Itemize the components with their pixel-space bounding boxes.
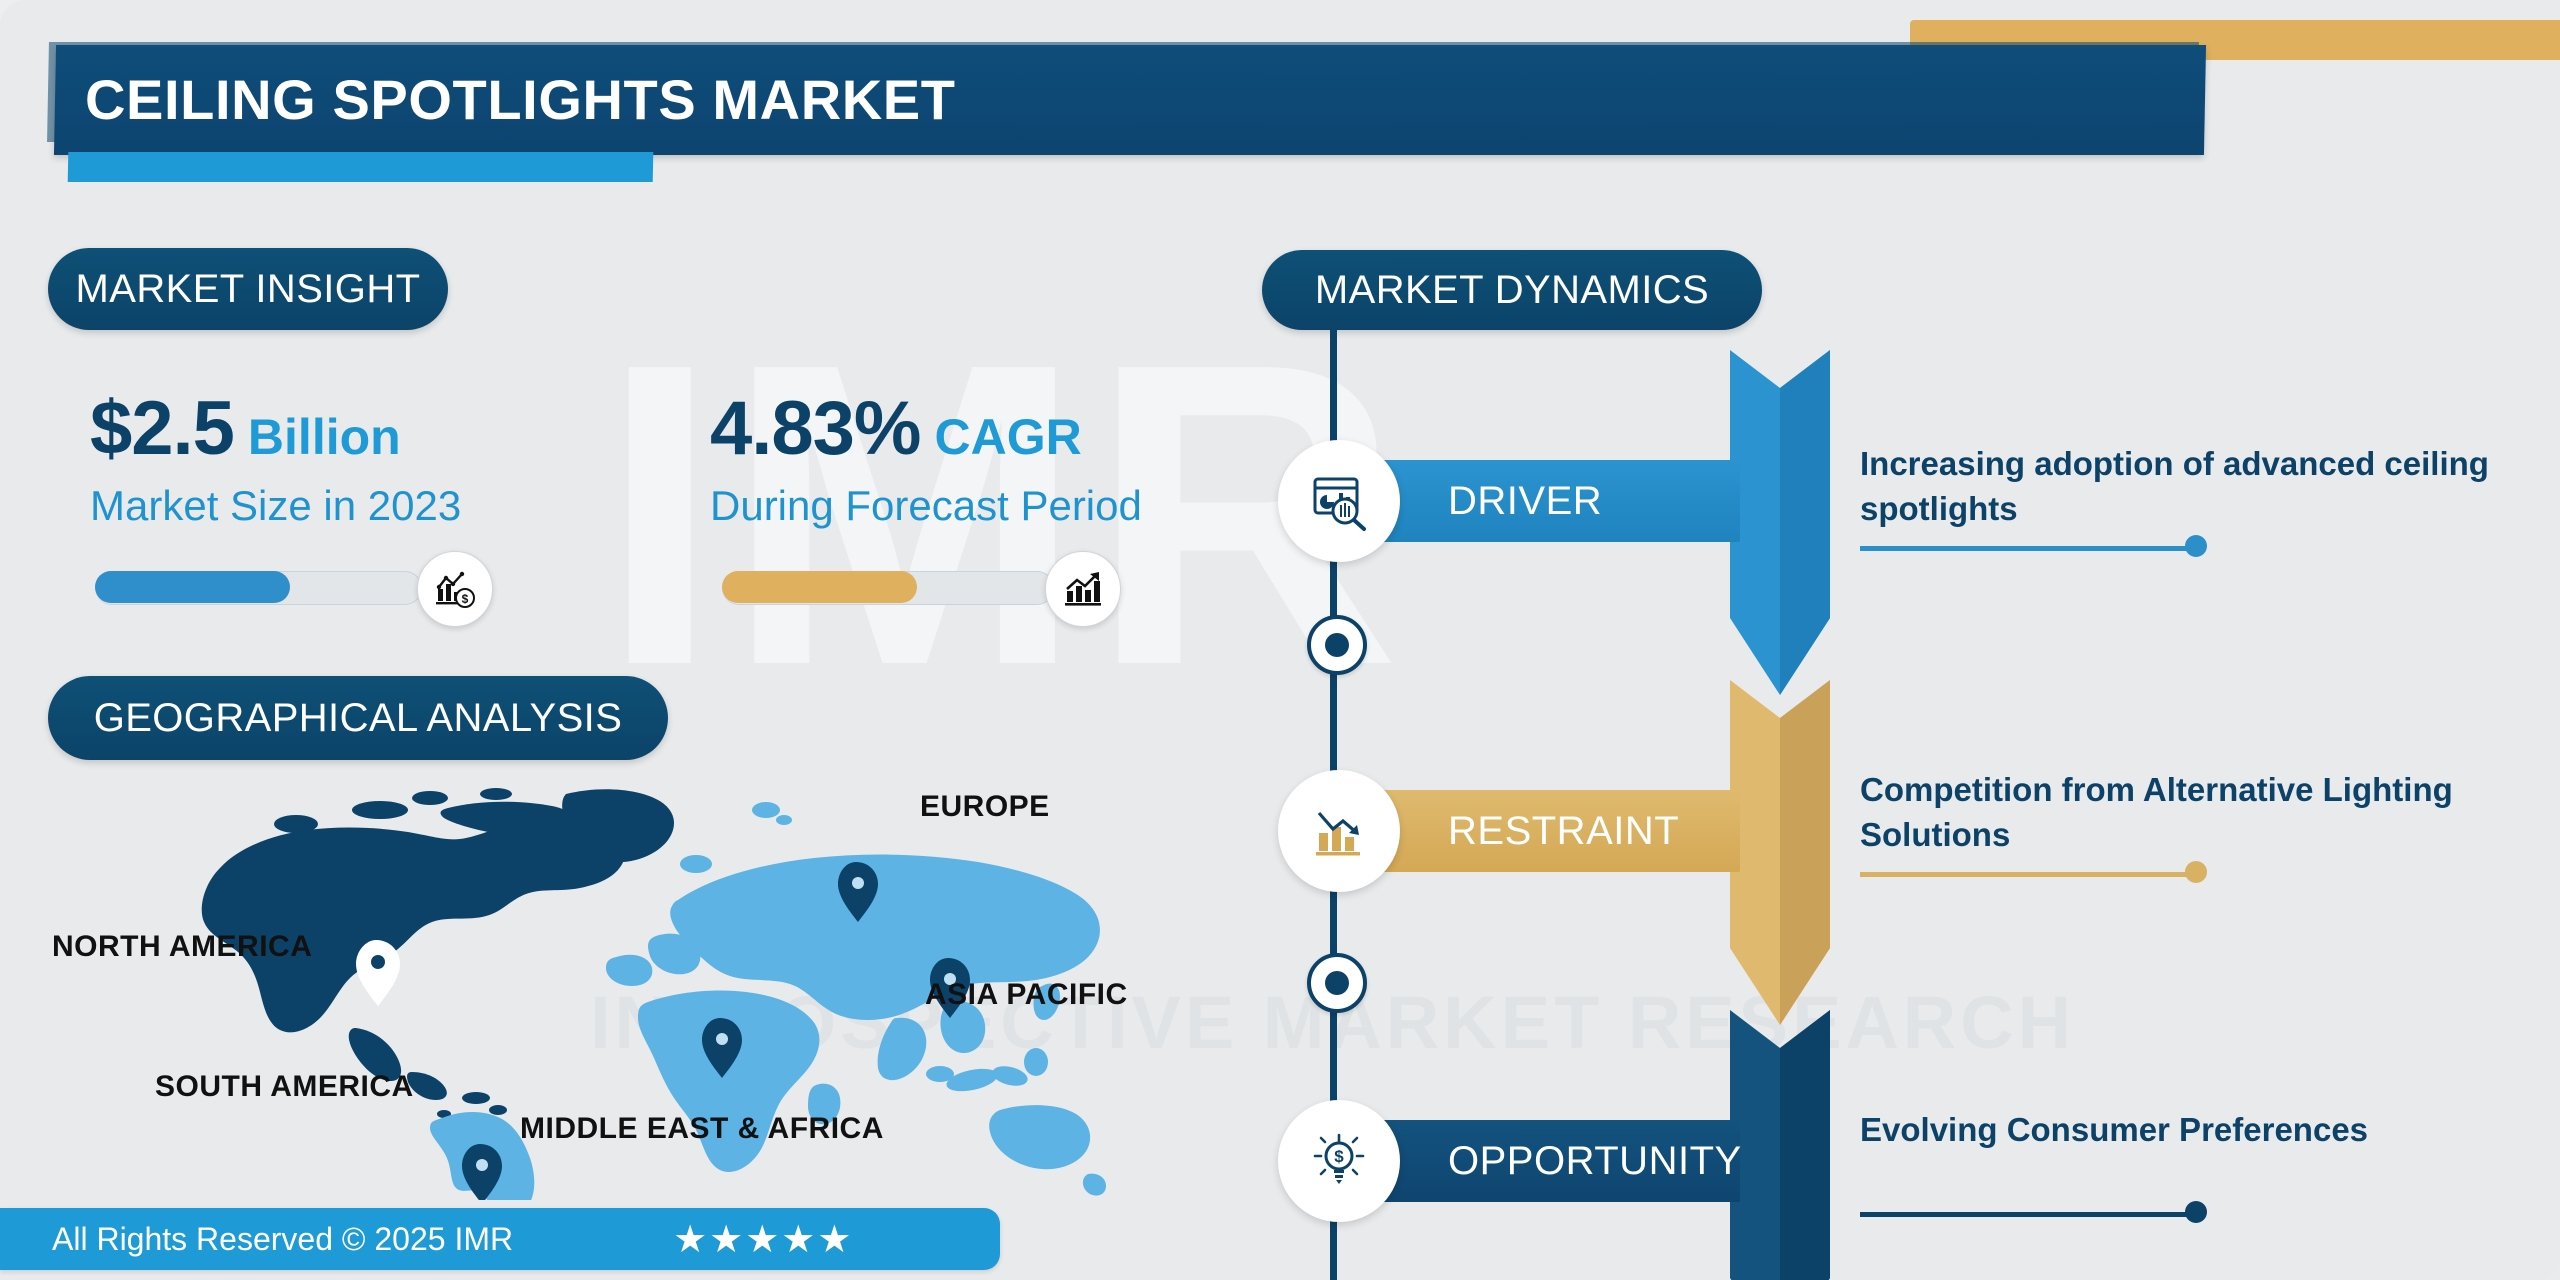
driver-chevron-shape	[1730, 350, 1830, 695]
driver-label: DRIVER	[1448, 479, 1602, 524]
opportunity-chevron-shape	[1730, 1010, 1830, 1280]
copyright-text: All Rights Reserved © 2025 IMR	[52, 1221, 513, 1258]
map-region-australia	[989, 1105, 1106, 1196]
timeline-node-2	[1307, 953, 1367, 1013]
page-title: CEILING SPOTLIGHTS MARKET	[85, 67, 956, 132]
progress-fill	[95, 571, 290, 603]
metric-cagr: 4.83%CAGR During Forecast Period	[710, 385, 1142, 530]
metric-caption: Market Size in 2023	[90, 482, 461, 530]
infographic-canvas: IMR INTROSPECTIVE MARKET RESEARCH CEILIN…	[0, 0, 2560, 1280]
opportunity-end-dot	[2185, 1201, 2207, 1223]
section-pill-market-insight: MARKET INSIGHT	[48, 248, 448, 330]
restraint-label: RESTRAINT	[1448, 809, 1679, 854]
metric-value: $2.5	[90, 385, 234, 472]
declining-bar-chart-icon	[1278, 770, 1400, 892]
restraint-underline	[1860, 872, 2195, 877]
progress-fill	[722, 571, 917, 603]
restraint-chevron-shape	[1730, 680, 1830, 1025]
bar-chart-dollar-icon: $	[417, 551, 493, 627]
map-label-europe: EUROPE	[920, 790, 1050, 824]
lightbulb-dollar-icon: $	[1278, 1100, 1400, 1222]
rating-stars: ★★★★★	[673, 1217, 853, 1262]
metric-unit: Billion	[248, 408, 401, 466]
title-accent-bar	[68, 152, 654, 182]
growth-chart-arrow-icon	[1045, 551, 1121, 627]
cagr-progress	[722, 565, 1052, 609]
map-label-north-america: NORTH AMERICA	[52, 930, 312, 964]
market-size-progress: $	[95, 565, 420, 609]
map-label-middle-east-africa: MIDDLE EAST & AFRICA	[520, 1112, 884, 1146]
metric-unit: CAGR	[935, 408, 1082, 466]
section-pill-geographical-analysis: GEOGRAPHICAL ANALYSIS	[48, 676, 668, 760]
map-label-asia-pacific: ASIA PACIFIC	[925, 978, 1128, 1012]
svg-text:$: $	[462, 592, 469, 606]
section-pill-market-dynamics: MARKET DYNAMICS	[1262, 250, 1762, 330]
footer-bar: All Rights Reserved © 2025 IMR ★★★★★	[0, 1208, 1000, 1270]
driver-end-dot	[2185, 535, 2207, 557]
driver-underline	[1860, 546, 2195, 551]
restraint-end-dot	[2185, 861, 2207, 883]
opportunity-underline	[1860, 1212, 2195, 1217]
metric-value: 4.83%	[710, 385, 921, 472]
driver-description: Increasing adoption of advanced ceiling …	[1860, 442, 2560, 531]
opportunity-label: OPPORTUNITY	[1448, 1139, 1742, 1184]
title-banner: CEILING SPOTLIGHTS MARKET	[54, 45, 2206, 155]
metric-market-size: $2.5Billion Market Size in 2023	[90, 385, 461, 530]
metric-caption: During Forecast Period	[710, 482, 1142, 530]
report-analysis-icon	[1278, 440, 1400, 562]
opportunity-description: Evolving Consumer Preferences	[1860, 1108, 2560, 1153]
svg-text:$: $	[1334, 1147, 1344, 1166]
restraint-description: Competition from Alternative Lighting So…	[1860, 768, 2560, 857]
timeline-node-1	[1307, 615, 1367, 675]
map-label-south-america: SOUTH AMERICA	[155, 1070, 414, 1104]
